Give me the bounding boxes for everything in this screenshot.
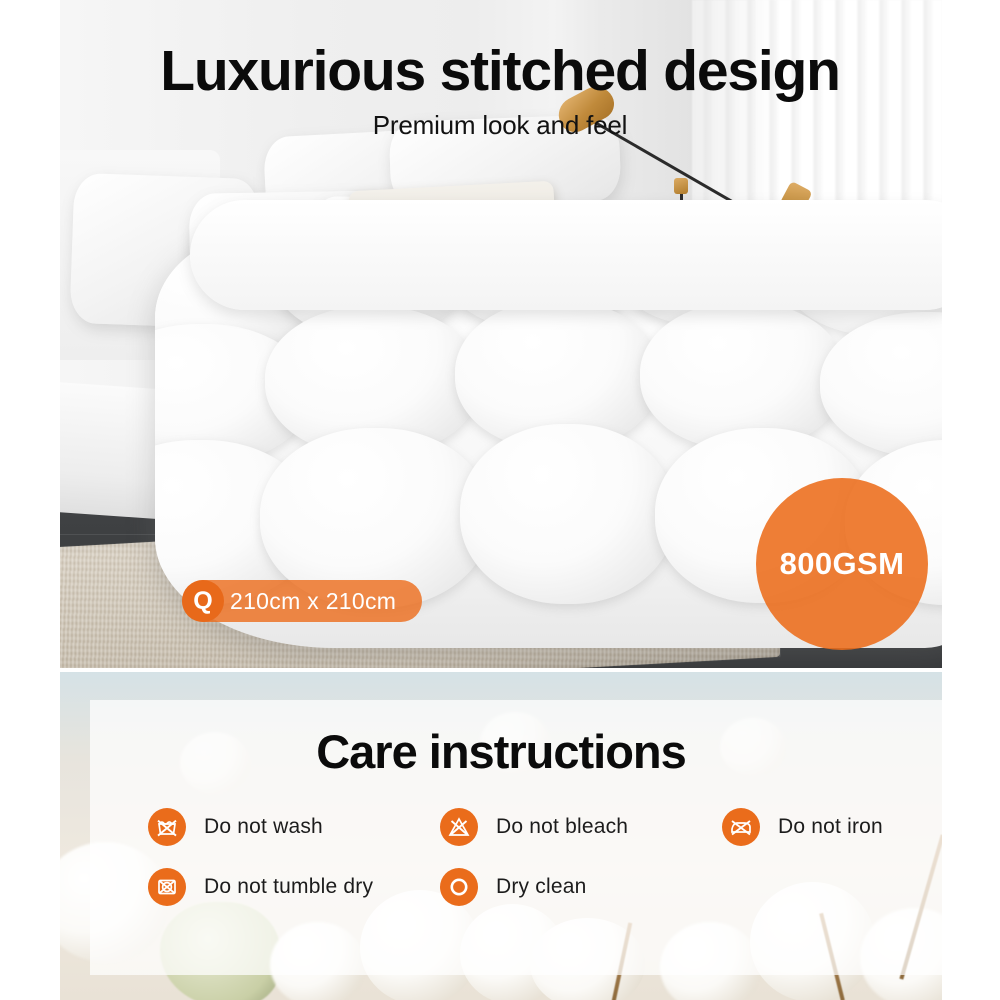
care-row: Do not tumble dry Dry clean bbox=[148, 868, 938, 906]
care-row: Do not wash Do not bleach bbox=[148, 808, 938, 846]
care-item-label: Do not iron bbox=[778, 815, 883, 839]
dry-clean-icon bbox=[440, 868, 478, 906]
care-title: Care instructions bbox=[60, 724, 942, 779]
product-infographic: 800GSM Q 210cm x 210cm Luxurious stitche… bbox=[0, 0, 1000, 1000]
care-section: Care instructions Do not wash bbox=[60, 672, 942, 1000]
page-subtitle: Premium look and feel bbox=[0, 110, 1000, 141]
care-item-label: Do not tumble dry bbox=[204, 875, 373, 899]
size-badge: Q 210cm x 210cm bbox=[182, 580, 422, 622]
size-badge-letter-circle: Q bbox=[182, 580, 224, 622]
gsm-badge: 800GSM bbox=[756, 478, 928, 650]
do-not-iron-icon bbox=[722, 808, 760, 846]
care-item-label: Do not bleach bbox=[496, 815, 628, 839]
care-instructions-grid: Do not wash Do not bleach bbox=[148, 808, 938, 928]
care-item-do-not-tumble-dry: Do not tumble dry bbox=[148, 868, 440, 906]
gsm-badge-label: 800GSM bbox=[780, 546, 905, 582]
do-not-tumble-dry-icon bbox=[148, 868, 186, 906]
size-badge-label: 210cm x 210cm bbox=[230, 588, 396, 615]
care-item-do-not-bleach: Do not bleach bbox=[440, 808, 722, 846]
page-title: Luxurious stitched design bbox=[0, 38, 1000, 104]
care-item-dry-clean: Dry clean bbox=[440, 868, 722, 906]
care-item-label: Dry clean bbox=[496, 875, 587, 899]
care-item-do-not-iron: Do not iron bbox=[722, 808, 883, 846]
do-not-wash-icon bbox=[148, 808, 186, 846]
lamp-joint bbox=[674, 178, 688, 194]
do-not-bleach-icon bbox=[440, 808, 478, 846]
duvet-top-roll bbox=[190, 200, 942, 310]
care-item-label: Do not wash bbox=[204, 815, 323, 839]
care-item-do-not-wash: Do not wash bbox=[148, 808, 440, 846]
size-badge-letter: Q bbox=[193, 587, 212, 616]
